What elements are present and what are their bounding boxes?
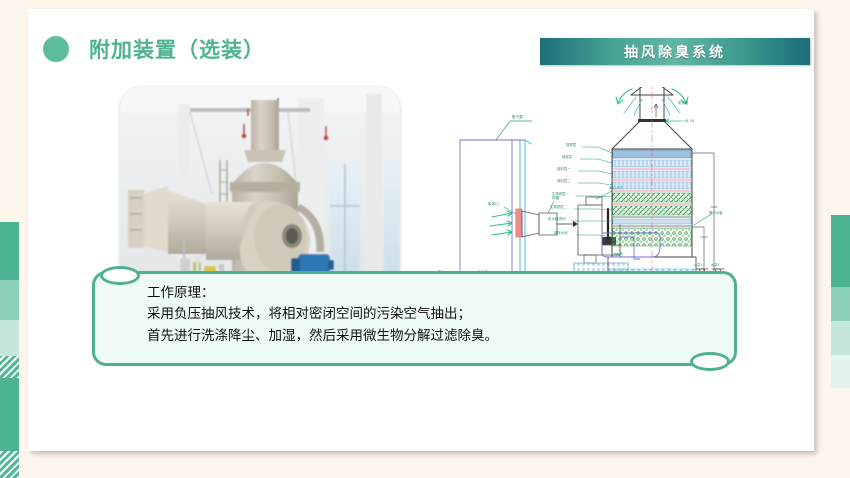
- accent-seg-solid-r: [831, 215, 850, 287]
- svg-text:水池: 水池: [616, 251, 623, 256]
- svg-text:布水器/喷头: 布水器/喷头: [548, 216, 567, 221]
- svg-text:防雨帽: 防雨帽: [678, 100, 689, 105]
- accent-seg-mid: [0, 280, 19, 320]
- bullet-circle-icon: [43, 36, 69, 62]
- section-banner-label: 抽风除臭系统: [624, 42, 726, 62]
- svg-text:+6.50: +6.50: [683, 119, 695, 123]
- accent-seg-solid-2: [0, 378, 19, 451]
- accent-seg-solid: [0, 222, 19, 280]
- svg-text:填料层二: 填料层二: [557, 178, 571, 183]
- accent-seg-pale: [0, 320, 19, 356]
- decor-ring-top-left: [100, 266, 140, 285]
- svg-text:水泵1: 水泵1: [694, 262, 702, 267]
- svg-text:喷淋层: 喷淋层: [562, 154, 573, 159]
- principle-line-2: 首先进行洗涤降尘、加湿，然后采用微生物分解过滤除臭。: [147, 326, 734, 347]
- accent-seg-cream-r: [831, 388, 850, 478]
- section-banner: 抽风除臭系统: [540, 38, 810, 65]
- svg-text:水泵2: 水泵2: [711, 262, 719, 267]
- svg-text:吸风口: 吸风口: [488, 202, 499, 206]
- accent-seg-stripes: [0, 356, 19, 378]
- accent-seg-stripes-2: [0, 451, 19, 478]
- svg-text:集气罩: 集气罩: [512, 114, 523, 119]
- svg-text:循环水池: 循环水池: [554, 230, 568, 235]
- right-accent-bar: [831, 215, 850, 478]
- svg-text:除雾层: 除雾层: [566, 142, 577, 147]
- page-title-label: 附加装置（选装）: [89, 34, 265, 64]
- accent-seg-mid-r: [831, 287, 850, 321]
- principle-textbox: 工作原理： 采用负压抽风技术，将相对密闭空间的污染空气抽出； 首先进行洗涤降尘、…: [92, 271, 737, 366]
- accent-seg-pale-r: [831, 321, 850, 355]
- principle-heading: 工作原理：: [147, 283, 734, 304]
- page-title: 附加装置（选装）: [43, 34, 265, 64]
- svg-text:循环水管: 循环水管: [709, 210, 723, 215]
- left-accent-bar: [0, 222, 19, 478]
- svg-text:生物滤层二: 生物滤层二: [550, 204, 568, 209]
- svg-text:生物滤层一: 生物滤层一: [552, 191, 570, 196]
- slide-card: 附加装置（选装） 抽风除臭系统: [28, 9, 814, 451]
- decor-ring-bottom-right: [690, 352, 730, 371]
- svg-text:填料层一: 填料层一: [557, 166, 571, 171]
- accent-seg-faint-r: [831, 355, 850, 388]
- principle-text-content: 工作原理： 采用负压抽风技术，将相对密闭空间的污染空气抽出； 首先进行洗涤降尘、…: [95, 274, 734, 347]
- principle-line-1: 采用负压抽风技术，将相对密闭空间的污染空气抽出；: [147, 304, 734, 325]
